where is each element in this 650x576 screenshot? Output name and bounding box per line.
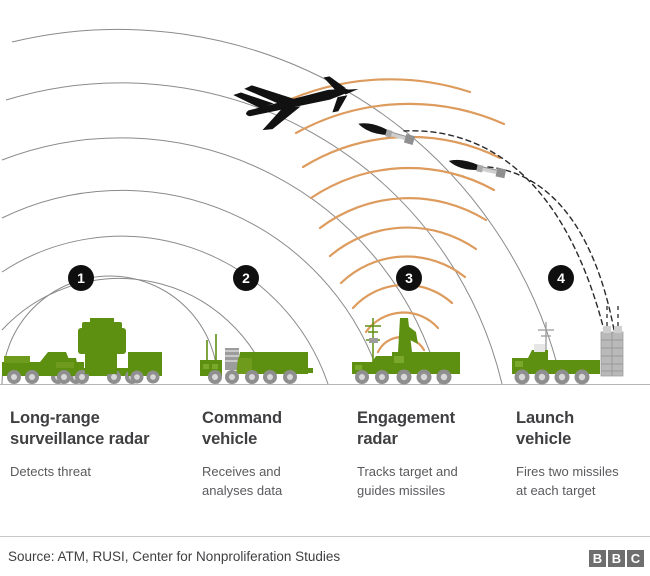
caption-description: Receives and analyses data xyxy=(202,462,347,500)
illustration-scene xyxy=(0,0,650,400)
engagement-radar-array xyxy=(398,318,418,352)
caption-title: Command vehicle xyxy=(202,408,347,450)
caption-description: Fires two missiles at each target xyxy=(516,462,648,500)
caption-title: Launch vehicle xyxy=(516,408,648,450)
bbc-logo-letter-2: B xyxy=(608,550,625,567)
vehicle-surveillance-radar xyxy=(2,318,162,384)
engagement-radar-arcs xyxy=(280,79,504,352)
caption-command-vehicle: Command vehicle Receives and analyses da… xyxy=(202,408,347,500)
launch-chassis xyxy=(548,360,600,374)
source-attribution: Source: ATM, RUSI, Center for Nonprolife… xyxy=(8,547,340,567)
bbc-logo-letter-3: C xyxy=(627,550,644,567)
radar-drum xyxy=(78,318,126,374)
radar-equipment-box xyxy=(128,352,162,384)
step-badge-2: 2 xyxy=(233,265,259,291)
footer-divider xyxy=(0,536,650,537)
launch-truck-cab xyxy=(512,344,548,374)
bbc-logo: B B C xyxy=(589,550,644,567)
infographic-root: 1 2 3 4 Long-range surveillance radar De… xyxy=(0,0,650,576)
caption-title: Engagement radar xyxy=(357,408,509,450)
caption-long-range-surveillance-radar: Long-range surveillance radar Detects th… xyxy=(10,408,200,481)
engagement-support-truck xyxy=(352,356,392,384)
caption-description: Tracks target and guides missiles xyxy=(357,462,509,500)
engagement-wheels xyxy=(397,370,452,385)
step-badge-3: 3 xyxy=(396,265,422,291)
step-badge-4: 4 xyxy=(548,265,574,291)
caption-launch-vehicle: Launch vehicle Fires two missiles at eac… xyxy=(516,408,648,500)
vehicle-launch xyxy=(512,306,623,385)
vehicle-command xyxy=(200,334,313,384)
caption-title: Long-range surveillance radar xyxy=(10,408,200,450)
caption-engagement-radar: Engagement radar Tracks target and guide… xyxy=(357,408,509,500)
captions-row: Long-range surveillance radar Detects th… xyxy=(0,408,650,513)
missile-canisters xyxy=(601,306,623,376)
caption-description: Detects threat xyxy=(10,462,200,481)
bbc-logo-letter-1: B xyxy=(589,550,606,567)
step-badge-1: 1 xyxy=(68,265,94,291)
